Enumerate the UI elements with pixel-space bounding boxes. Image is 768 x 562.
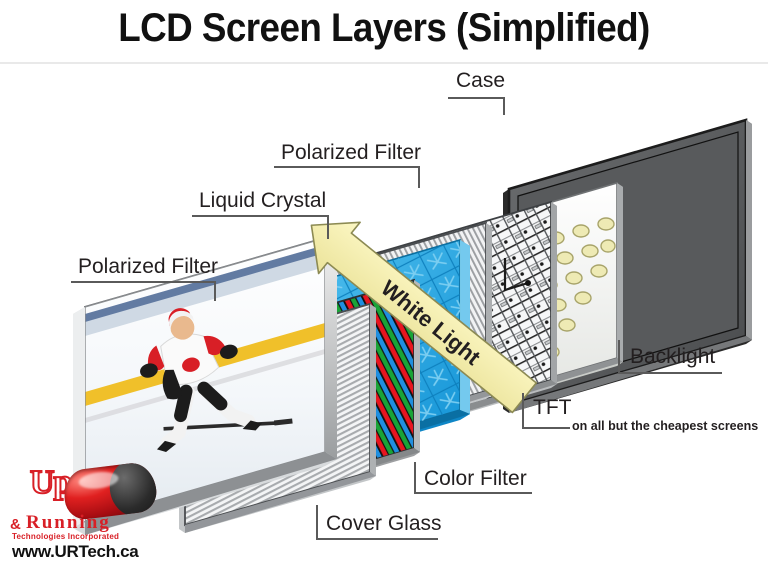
callout-polarized-filter-lower: Polarized Filter xyxy=(78,256,218,278)
callout-case-rule xyxy=(448,97,504,99)
callout-backlight-leader xyxy=(618,340,620,373)
logo-tagline: Technologies Incorporated xyxy=(12,532,119,541)
callout-color-filter-leader xyxy=(414,462,416,493)
company-logo[interactable]: Up & Running Technologies Incorporated w… xyxy=(6,462,172,544)
callout-liquid-crystal: Liquid Crystal xyxy=(199,190,326,212)
callout-color-filter: Color Filter xyxy=(424,468,527,490)
callout-cover-glass: Cover Glass xyxy=(326,513,442,535)
page-title: LCD Screen Layers (Simplified) xyxy=(31,6,738,51)
callout-tft: TFT xyxy=(533,397,571,419)
callout-color-filter-rule xyxy=(414,492,532,494)
logo-ampersand: & xyxy=(10,516,21,533)
callout-tft-rule xyxy=(522,427,570,429)
callout-case-leader xyxy=(503,97,505,115)
logo-word-running: Running xyxy=(26,512,111,534)
callout-polarized-filter-lower-rule xyxy=(71,281,215,283)
callout-polarized-filter-upper: Polarized Filter xyxy=(281,142,421,164)
callout-cover-glass-leader xyxy=(316,505,318,539)
slide-canvas: LCD Screen Layers (Simplified) xyxy=(0,0,768,547)
callout-polarized-filter-upper-rule xyxy=(274,166,420,168)
callout-tft-leader xyxy=(522,393,524,428)
callout-case: Case xyxy=(456,70,505,92)
callout-polarized-filter-lower-leader xyxy=(214,281,216,301)
callout-backlight: Backlight xyxy=(630,346,715,368)
callout-polarized-filter-upper-leader xyxy=(418,166,420,188)
callout-cover-glass-rule xyxy=(316,538,438,540)
callout-backlight-rule xyxy=(618,372,722,374)
callout-tft-note: on all but the cheapest screens xyxy=(572,415,758,437)
logo-website[interactable]: www.URTech.ca xyxy=(12,542,138,562)
callout-liquid-crystal-leader xyxy=(327,215,329,239)
callout-liquid-crystal-rule xyxy=(192,215,328,217)
